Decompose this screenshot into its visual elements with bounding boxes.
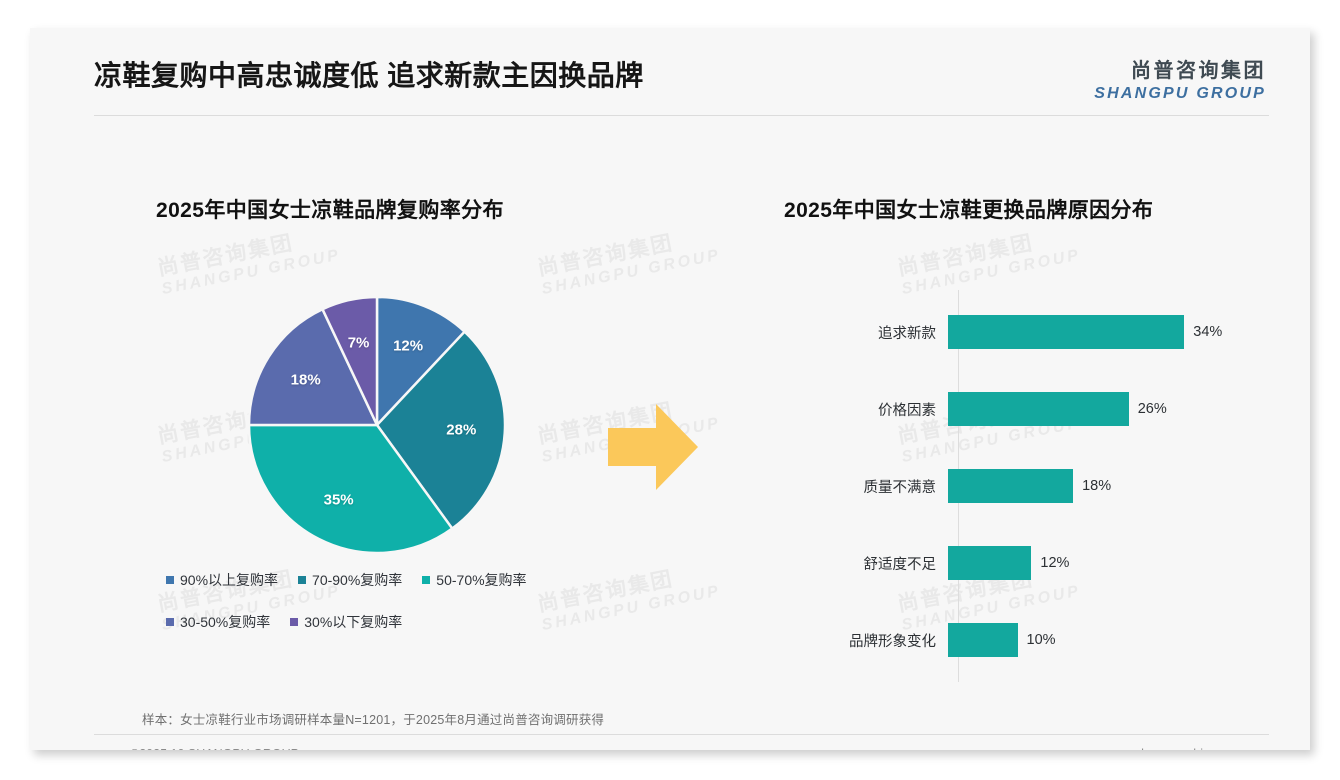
pie-chart-title: 2025年中国女士凉鞋品牌复购率分布	[156, 194, 504, 224]
footer-divider	[94, 734, 1269, 735]
bar-fill[interactable]	[948, 546, 1031, 580]
bar-chart-title: 2025年中国女士凉鞋更换品牌原因分布	[784, 194, 1153, 224]
bar-category-label: 品牌形象变化	[836, 630, 948, 651]
legend-swatch-icon	[290, 618, 298, 626]
copyright-text: ©2025.10 SHANGPU GROUP	[130, 747, 299, 750]
slide-header: 凉鞋复购中高忠诚度低 追求新款主因换品牌 尚普咨询集团 SHANGPU GROU…	[30, 28, 1310, 118]
website-url[interactable]: www.shangpu-china.com	[1105, 747, 1244, 750]
watermark-cn: 尚普咨询集团	[536, 223, 719, 281]
legend-item[interactable]: 30%以下复购率	[290, 612, 402, 632]
logo-text-cn: 尚普咨询集团	[1094, 54, 1266, 83]
page-title: 凉鞋复购中高忠诚度低 追求新款主因换品牌	[94, 54, 644, 94]
legend-row: 30-50%复购率30%以下复购率	[166, 612, 596, 632]
watermark: 尚普咨询集团 SHANGPU GROUP	[156, 223, 343, 298]
legend-label: 90%以上复购率	[180, 570, 278, 590]
bar-value-label: 34%	[1193, 324, 1222, 340]
bar-chart: 追求新款34%价格因素26%质量不满意18%舒适度不足12%品牌形象变化10%	[836, 290, 1306, 682]
watermark-cn: 尚普咨询集团	[896, 223, 1079, 281]
watermark-en: SHANGPU GROUP	[160, 246, 342, 298]
bar-value-label: 26%	[1138, 401, 1167, 417]
watermark-en: SHANGPU GROUP	[540, 246, 722, 298]
pie-slice-label: 18%	[291, 371, 321, 388]
bar-category-label: 质量不满意	[836, 476, 948, 497]
bar-fill[interactable]	[948, 392, 1129, 426]
bar-value-label: 12%	[1040, 555, 1069, 571]
pie-slice-label: 28%	[446, 422, 476, 439]
legend-label: 30%以下复购率	[304, 612, 402, 632]
legend-label: 70-90%复购率	[312, 570, 402, 590]
legend-label: 30-50%复购率	[180, 612, 270, 632]
legend-row: 90%以上复购率70-90%复购率50-70%复购率	[166, 570, 596, 590]
right-arrow-icon	[608, 400, 700, 499]
pie-legend: 90%以上复购率70-90%复购率50-70%复购率30-50%复购率30%以下…	[166, 570, 596, 654]
bar-category-label: 舒适度不足	[836, 553, 948, 574]
bar-chart-row: 追求新款34%	[836, 312, 1306, 352]
legend-label: 50-70%复购率	[436, 570, 526, 590]
legend-item[interactable]: 30-50%复购率	[166, 612, 270, 632]
bar-chart-row: 舒适度不足12%	[836, 543, 1306, 583]
bar-fill[interactable]	[948, 315, 1184, 349]
watermark: 尚普咨询集团 SHANGPU GROUP	[896, 223, 1083, 298]
logo-text-en: SHANGPU GROUP	[1094, 85, 1266, 103]
legend-swatch-icon	[298, 576, 306, 584]
legend-swatch-icon	[166, 576, 174, 584]
bar-category-label: 价格因素	[836, 399, 948, 420]
watermark-cn: 尚普咨询集团	[156, 223, 339, 281]
legend-item[interactable]: 70-90%复购率	[298, 570, 402, 590]
bar-value-label: 18%	[1082, 478, 1111, 494]
bar-chart-row: 品牌形象变化10%	[836, 620, 1306, 660]
legend-swatch-icon	[422, 576, 430, 584]
bar-category-label: 追求新款	[836, 322, 948, 343]
legend-item[interactable]: 90%以上复购率	[166, 570, 278, 590]
pie-slice-label: 12%	[393, 338, 423, 355]
pie-slice-label: 35%	[324, 492, 354, 509]
bar-chart-row: 质量不满意18%	[836, 466, 1306, 506]
bar-fill[interactable]	[948, 469, 1073, 503]
pie-chart: 12%28%35%18%7%	[248, 296, 506, 554]
sample-footnote: 样本：女士凉鞋行业市场调研样本量N=1201，于2025年8月通过尚普咨询调研获…	[142, 709, 604, 728]
bar-value-label: 10%	[1027, 632, 1056, 648]
legend-swatch-icon	[166, 618, 174, 626]
bar-fill[interactable]	[948, 623, 1018, 657]
slide-canvas: 尚普咨询集团 SHANGPU GROUP 尚普咨询集团 SHANGPU GROU…	[30, 28, 1310, 750]
watermark: 尚普咨询集团 SHANGPU GROUP	[536, 223, 723, 298]
legend-item[interactable]: 50-70%复购率	[422, 570, 526, 590]
brand-logo: 尚普咨询集团 SHANGPU GROUP	[1094, 54, 1266, 103]
pie-slice-label: 7%	[348, 334, 370, 351]
bar-chart-row: 价格因素26%	[836, 389, 1306, 429]
